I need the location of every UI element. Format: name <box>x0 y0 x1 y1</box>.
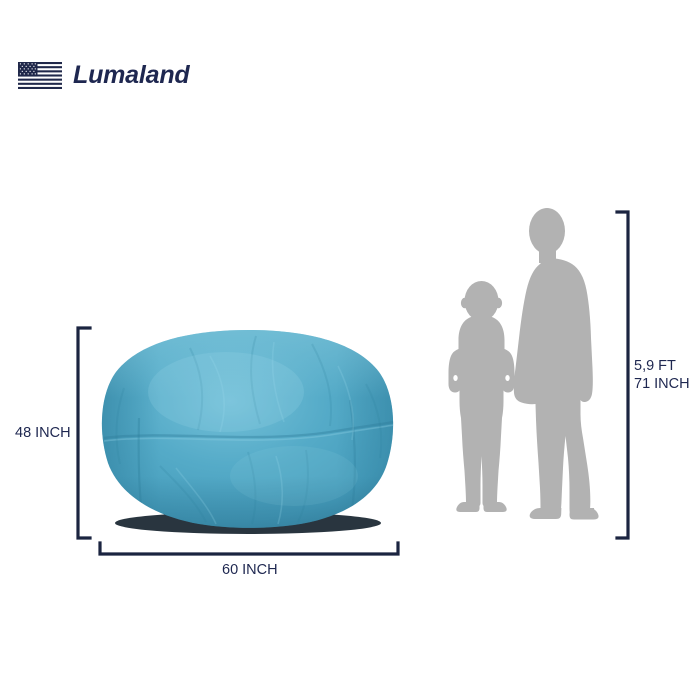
scale-reference-figures <box>418 208 618 540</box>
adult-silhouette <box>514 208 599 520</box>
silhouette-group <box>418 208 618 540</box>
us-flag-icon <box>18 62 62 89</box>
width-dimension-bracket <box>98 540 400 558</box>
height-dimension-bracket <box>74 326 94 540</box>
bean-bag-product-image <box>98 326 398 536</box>
bean-bag-shape <box>98 326 398 536</box>
brand-name: Lumaland <box>73 63 189 88</box>
height-dimension-label: 48 INCH <box>15 424 71 442</box>
person-height-inches: 71 INCH <box>634 375 690 393</box>
person-height-dimension-label: 5,9 FT 71 INCH <box>634 357 690 393</box>
brand-logo: Lumaland <box>18 62 189 89</box>
width-dimension-label: 60 INCH <box>222 561 278 579</box>
person-height-dimension-bracket <box>612 210 632 540</box>
person-height-feet: 5,9 FT <box>634 357 690 375</box>
child-silhouette <box>449 281 515 512</box>
product-dimension-diagram: Lumaland <box>0 0 700 700</box>
